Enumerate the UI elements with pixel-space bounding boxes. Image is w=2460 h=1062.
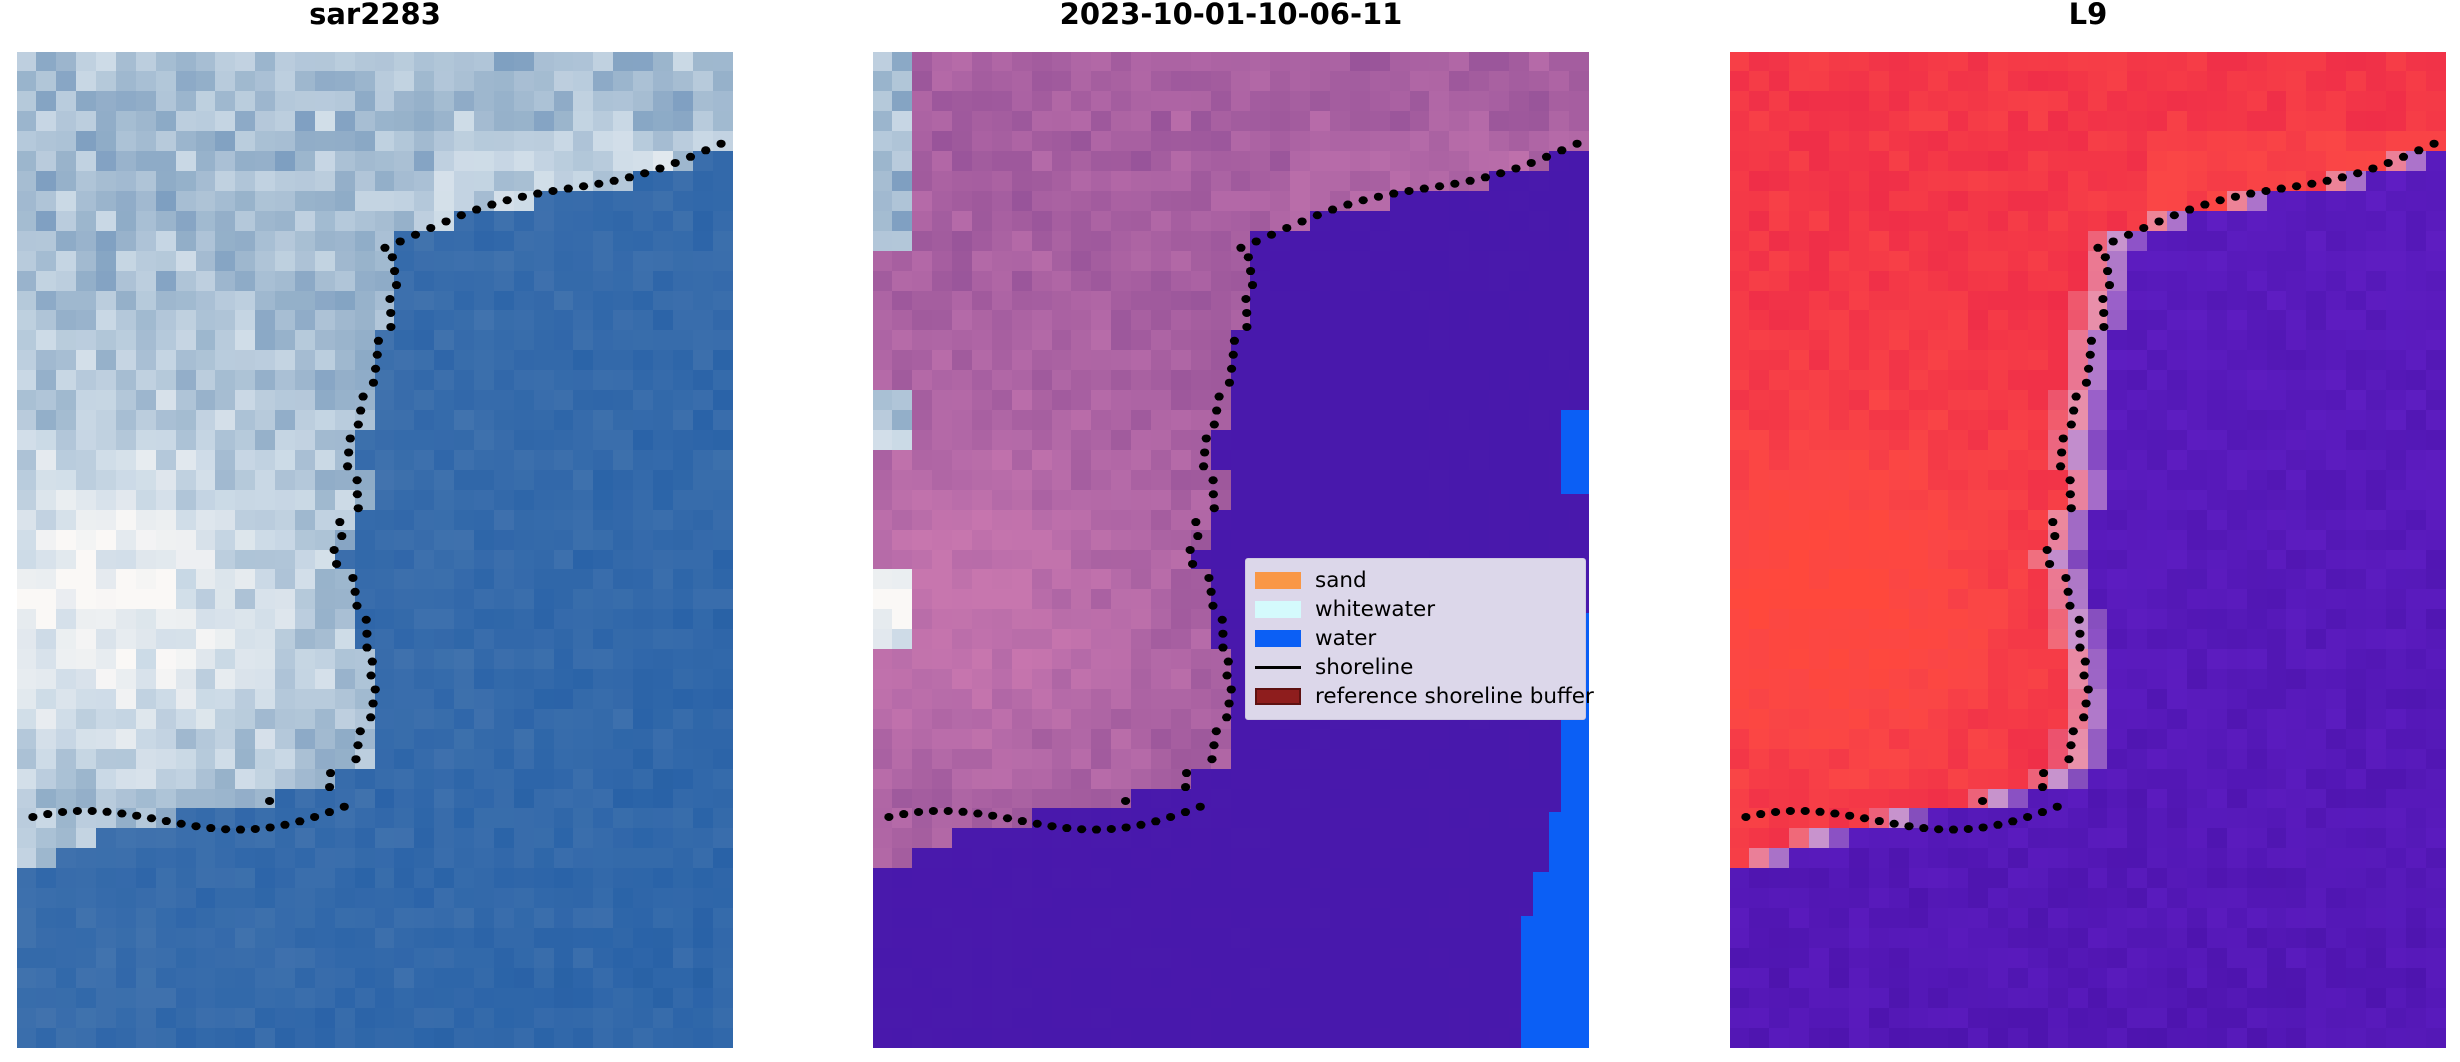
- panel-l9: L9: [1730, 0, 2446, 1048]
- panel-date: 2023-10-01-10-06-11: [873, 0, 1589, 1048]
- panel-title-date: 2023-10-01-10-06-11: [873, 0, 1589, 29]
- panel-title-sar2283: sar2283: [17, 0, 733, 29]
- water-swatch-icon: [1255, 630, 1301, 647]
- whitewater-swatch-icon: [1255, 601, 1301, 618]
- panel-title-l9: L9: [1730, 0, 2446, 29]
- reference-shoreline-buffer-swatch-icon: [1255, 688, 1301, 705]
- legend-item-sand: sand: [1255, 566, 1576, 595]
- figure-canvas: sar2283 2023-10-01-10-06-11 L9 sand whit…: [0, 0, 2460, 1062]
- panel-image-sar2283: [17, 52, 733, 1048]
- legend-item-water: water: [1255, 624, 1576, 653]
- shoreline-line-icon: [1255, 659, 1301, 676]
- panel-image-l9: [1730, 52, 2446, 1048]
- legend-label-water: water: [1315, 628, 1376, 650]
- panel-sar2283: sar2283: [17, 0, 733, 1048]
- legend-item-shoreline: shoreline: [1255, 653, 1576, 682]
- legend-label-shoreline: shoreline: [1315, 657, 1413, 679]
- legend-label-whitewater: whitewater: [1315, 599, 1435, 621]
- legend-item-reference-shoreline-buffer: reference shoreline buffer: [1255, 682, 1576, 711]
- legend-item-whitewater: whitewater: [1255, 595, 1576, 624]
- sand-swatch-icon: [1255, 572, 1301, 589]
- legend-label-reference-shoreline-buffer: reference shoreline buffer: [1315, 686, 1594, 708]
- legend-label-sand: sand: [1315, 570, 1367, 592]
- panel-image-date: [873, 52, 1589, 1048]
- legend: sand whitewater water shoreline referenc…: [1245, 558, 1586, 720]
